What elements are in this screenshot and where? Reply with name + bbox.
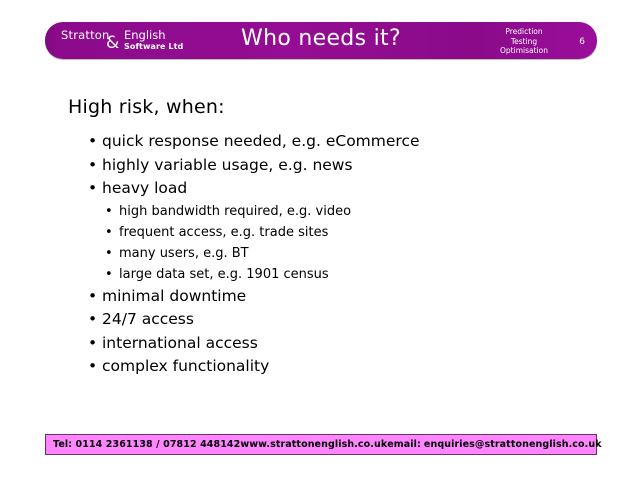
bullet-text: many users, e.g. BT	[119, 246, 249, 261]
header-meta-prediction: Prediction	[485, 27, 563, 37]
bullet-item: •highly variable usage, e.g. news	[0, 154, 640, 178]
slide-page-number: 6	[579, 37, 585, 47]
footer-telephone: Tel: 0114 2361138 / 07812 448142	[53, 439, 240, 450]
bullet-text: frequent access, e.g. trade sites	[119, 225, 328, 240]
bullet-text: 24/7 access	[102, 310, 194, 328]
bullet-dot-icon: •	[88, 177, 97, 201]
bullet-item: •quick response needed, e.g. eCommerce	[0, 130, 640, 154]
bullet-list: •quick response needed, e.g. eCommerce•h…	[0, 130, 640, 379]
bullet-text: large data set, e.g. 1901 census	[119, 267, 329, 282]
bullet-item: •frequent access, e.g. trade sites	[0, 222, 640, 243]
bullet-dot-icon: •	[105, 264, 113, 285]
slide-footer-bar: Tel: 0114 2361138 / 07812 448142 www.str…	[45, 434, 597, 455]
bullet-dot-icon: •	[105, 222, 113, 243]
bullet-item: •international access	[0, 332, 640, 356]
bullet-item: •complex functionality	[0, 355, 640, 379]
bullet-item: •minimal downtime	[0, 285, 640, 309]
bullet-item: •high bandwidth required, e.g. video	[0, 201, 640, 222]
footer-email-group: email:enquiries@strattonenglish.co.uk	[387, 439, 601, 450]
bullet-dot-icon: •	[88, 285, 97, 309]
footer-inner: Tel: 0114 2361138 / 07812 448142 www.str…	[46, 435, 596, 454]
bullet-item: •heavy load	[0, 177, 640, 201]
slide-header-bar: Stratton & English Software Ltd Who need…	[45, 22, 597, 59]
bullet-dot-icon: •	[105, 201, 113, 222]
bullet-text: complex functionality	[102, 357, 269, 375]
bullet-dot-icon: •	[88, 355, 97, 379]
footer-website[interactable]: www.strattonenglish.co.uk	[240, 439, 387, 450]
content-heading: High risk, when:	[68, 96, 225, 118]
bullet-text: quick response needed, e.g. eCommerce	[102, 132, 420, 150]
bullet-dot-icon: •	[88, 130, 97, 154]
bullet-item: •many users, e.g. BT	[0, 243, 640, 264]
bullet-item: •24/7 access	[0, 308, 640, 332]
footer-email-label: email:	[387, 439, 421, 450]
bullet-dot-icon: •	[88, 308, 97, 332]
bullet-item: •large data set, e.g. 1901 census	[0, 264, 640, 285]
bullet-text: highly variable usage, e.g. news	[102, 156, 353, 174]
header-inner: Stratton & English Software Ltd Who need…	[45, 22, 597, 59]
header-meta-testing: Testing	[485, 37, 563, 47]
header-meta-optimisation: Optimisation	[485, 46, 563, 56]
bullet-text: heavy load	[102, 179, 187, 197]
bullet-dot-icon: •	[88, 154, 97, 178]
bullet-dot-icon: •	[88, 332, 97, 356]
header-meta-block: Prediction Testing Optimisation	[485, 27, 563, 56]
bullet-text: minimal downtime	[102, 287, 246, 305]
bullet-text: international access	[102, 334, 258, 352]
footer-email-address[interactable]: enquiries@strattonenglish.co.uk	[424, 439, 602, 450]
bullet-dot-icon: •	[105, 243, 113, 264]
bullet-text: high bandwidth required, e.g. video	[119, 204, 351, 219]
